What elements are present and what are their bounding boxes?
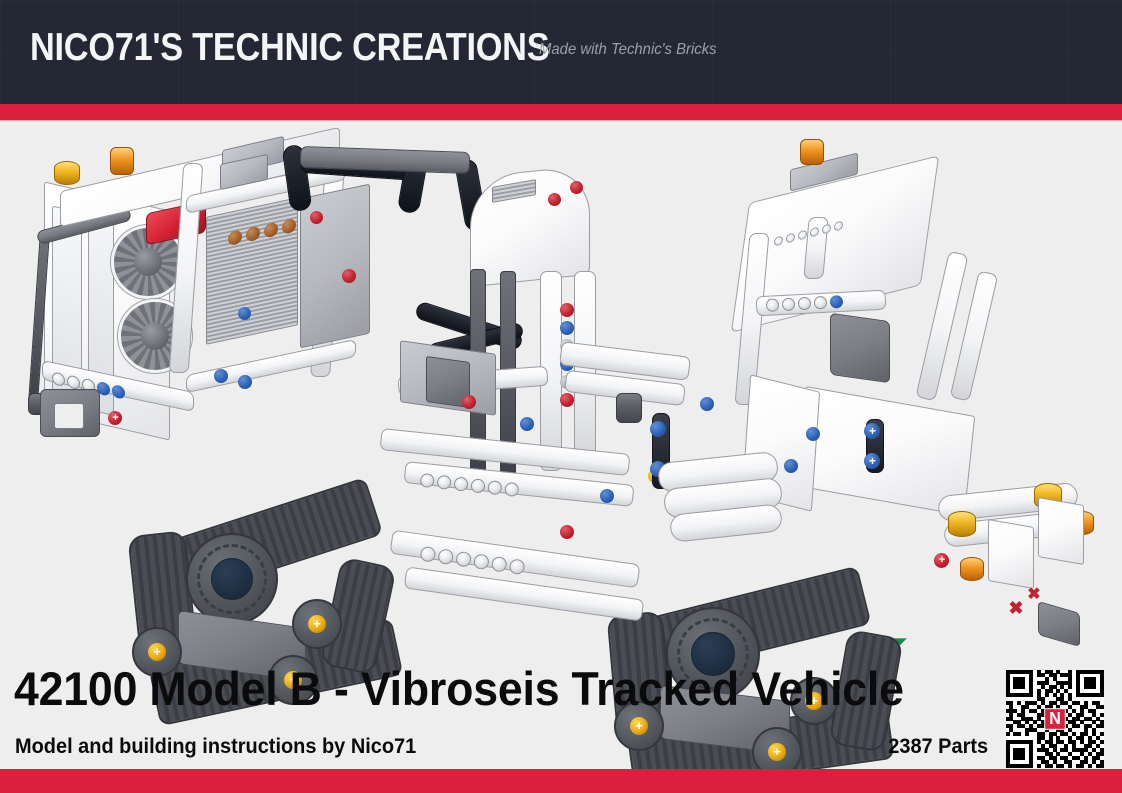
- left-yellow-beacon-a: [54, 161, 80, 185]
- front-light-cluster-b: [1038, 497, 1084, 565]
- parts-count-badge: 2387 Parts: [888, 734, 988, 760]
- left-orange-beacon: [110, 147, 134, 175]
- front-light-cluster-a: [988, 519, 1034, 589]
- center-hood-pin-b: [570, 181, 583, 194]
- pin-blue-1: [214, 369, 228, 383]
- pin-red-4: [462, 395, 476, 409]
- headlight-orange-inner: [960, 557, 984, 581]
- left-roller-rear-cross: +: [150, 645, 164, 658]
- mirror-arm: [1038, 601, 1080, 647]
- right-roller-front-cross: +: [770, 745, 784, 758]
- bumper-red-cross-b: ✖: [1026, 587, 1042, 603]
- rear-hitch-window: [54, 403, 84, 429]
- right-roller-rear-cross: +: [632, 719, 646, 732]
- bumper-red-cross-a: ✖: [1008, 599, 1024, 617]
- rear-red-pin-cross: +: [110, 413, 121, 424]
- pin-red-3: [560, 525, 574, 539]
- brand-tagline: Made with Technic's Bricks: [539, 40, 717, 60]
- site-header: NICO71'S TECHNIC CREATIONS Made with Tec…: [0, 0, 1122, 104]
- pin-red-2: [310, 211, 323, 224]
- cab-pin-cross-a: +: [866, 425, 879, 437]
- header-accent-rule: [0, 104, 1122, 120]
- left-of-cab-pin-a: [650, 421, 666, 437]
- pin-blue-2: [238, 375, 252, 389]
- brand-title: NICO71'S TECHNIC CREATIONS: [30, 26, 549, 70]
- pin-blue-7: [784, 459, 798, 473]
- credit-line: Model and building instructions by Nico7…: [15, 734, 416, 760]
- center-hood-pin-a: [548, 193, 561, 206]
- left-roller-mid-cross: +: [310, 617, 324, 630]
- cab-orange-beacon: [800, 139, 824, 165]
- footer-accent-rule: [0, 769, 1122, 793]
- qr-code-icon[interactable]: [1006, 670, 1104, 768]
- center-dark-cylinder: [616, 393, 642, 423]
- headlight-yellow-left: [948, 511, 976, 537]
- pin-blue-3: [238, 307, 251, 320]
- bumper-red-pin-cross: +: [936, 555, 948, 566]
- left-drive-sprocket: [186, 533, 278, 625]
- qr-code-canvas[interactable]: [1006, 670, 1104, 768]
- cab-seat: [830, 313, 890, 383]
- pin-blue-6: [806, 427, 820, 441]
- pin-blue-4: [520, 417, 534, 431]
- page-title: 42100 Model B - Vibroseis Tracked Vehicl…: [14, 662, 904, 716]
- left-engine-block: [300, 184, 370, 349]
- pin-red-1: [342, 269, 356, 283]
- cab-pin-cross-b: +: [866, 455, 879, 467]
- pin-blue-8: [700, 397, 714, 411]
- pin-blue-5: [600, 489, 614, 503]
- poster-page: NICO71'S TECHNIC CREATIONS Made with Tec…: [0, 0, 1122, 793]
